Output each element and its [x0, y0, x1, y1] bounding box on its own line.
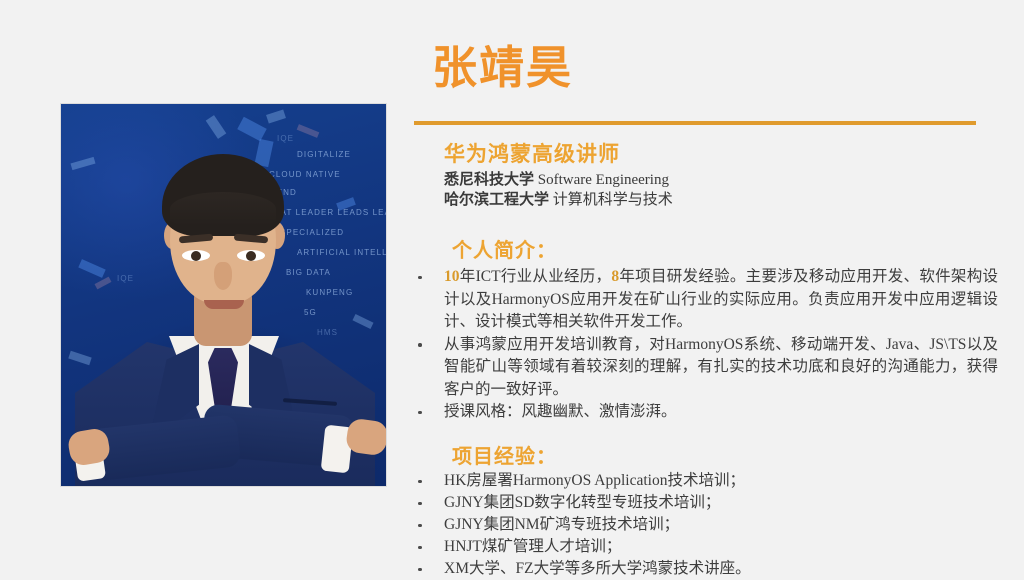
education-major: 计算机科学与技术	[553, 192, 673, 208]
section-heading-projects: 项目经验：	[452, 440, 557, 469]
portrait-figure	[61, 104, 386, 486]
bullet-text: 年ICT行业从业经历，	[460, 268, 612, 285]
list-item: GJNY集团SD数字化转型专班技术培训；	[414, 492, 998, 514]
nose	[214, 262, 232, 290]
education-item: 悉尼科技大学 Software Engineering	[444, 170, 673, 190]
eye-right	[237, 250, 265, 261]
list-item: HK房屋署HarmonyOS Application技术培训；	[414, 470, 998, 492]
projects-bullet-list: HK房屋署HarmonyOS Application技术培训；GJNY集团SD数…	[414, 470, 998, 580]
title-divider	[414, 121, 976, 125]
education-major: Software Engineering	[538, 172, 669, 188]
highlight-number: 10	[444, 268, 460, 285]
education-school: 哈尔滨工程大学	[444, 191, 549, 208]
bullet-text: 从事鸿蒙应用开发培训教育，对HarmonyOS系统、移动端开发、Java、JS\…	[444, 336, 998, 398]
section-heading-profile: 个人简介：	[452, 234, 557, 263]
highlight-number: 8	[611, 268, 619, 285]
education-item: 哈尔滨工程大学 计算机科学与技术	[444, 190, 673, 210]
role-subtitle: 华为鸿蒙高级讲师	[444, 138, 620, 168]
mouth	[204, 300, 244, 309]
list-item: 授课风格：风趣幽默、激情澎湃。	[414, 401, 998, 424]
education-school: 悉尼科技大学	[444, 171, 534, 188]
hair	[162, 154, 284, 236]
instructor-photo: IQE DIGITALIZE CLOUD NATIVE ASCEND GREAT…	[61, 104, 386, 486]
page-title: 张靖昊	[432, 45, 573, 90]
profile-bullet-list: 10年ICT行业从业经历，8年项目研发经验。主要涉及移动应用开发、软件架构设计以…	[414, 266, 998, 424]
eye-left	[182, 250, 210, 261]
list-item: HNJT煤矿管理人才培训；	[414, 536, 998, 558]
list-item: 从事鸿蒙应用开发培训教育，对HarmonyOS系统、移动端开发、Java、JS\…	[414, 334, 998, 402]
profile-content: 张靖昊 华为鸿蒙高级讲师 悉尼科技大学 Software Engineering…	[414, 0, 1014, 576]
list-item: GJNY集团NM矿鸿专班技术培训；	[414, 514, 998, 536]
list-item: 10年ICT行业从业经历，8年项目研发经验。主要涉及移动应用开发、软件架构设计以…	[414, 266, 998, 334]
list-item: XM大学、FZ大学等多所大学鸿蒙技术讲座。	[414, 558, 998, 580]
education-list: 悉尼科技大学 Software Engineering 哈尔滨工程大学 计算机科…	[444, 170, 673, 210]
bullet-text: 授课风格：风趣幽默、激情澎湃。	[444, 403, 677, 420]
